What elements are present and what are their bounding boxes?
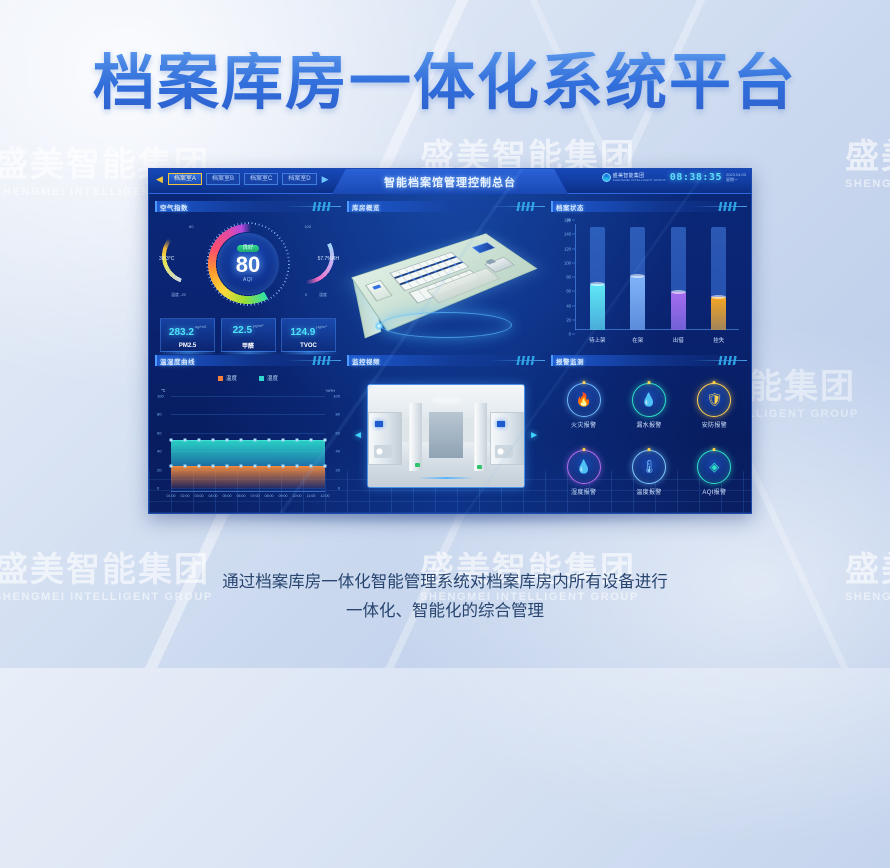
prev-arrow-icon[interactable]: ◀ [155, 175, 164, 184]
chart-data-point [324, 439, 327, 442]
chart-data-point [240, 464, 243, 467]
chart-y-tick-left: 20 [157, 467, 161, 472]
alarm-grid: 🔥火灾报警💧漏水报警🛡安防报警💧湿度报警🌡温度报警◈AQI报警 [551, 366, 747, 506]
panel-title-video: 监控视频 [347, 356, 380, 366]
tvoc-value: 124.9 [290, 327, 315, 338]
chart-x-tick-label: 02:00 [181, 494, 190, 498]
panel-body: 33.3°C 60 温度 -20 良好 80 AQI [155, 212, 341, 316]
panel-title-temp-humidity: 温湿度曲线 [155, 356, 195, 366]
control-cabinet [365, 280, 393, 302]
video-corridor-end [429, 412, 463, 458]
metric-value-row: 22.5μg/m³ [233, 320, 264, 338]
alarm-indicator-dot [647, 381, 650, 384]
chart-data-point [184, 439, 187, 442]
chart-y-tick-right: 0 [338, 486, 340, 491]
bar-chart-y-tick [572, 305, 575, 306]
watermark-en: SHENGMEI INTELLIGENT GROUP [845, 178, 890, 190]
bar-chart-y-tick-label: 100 [564, 260, 571, 265]
bar-chart-y-tick [572, 334, 575, 335]
humidity-unit-label: 湿度 [319, 292, 327, 298]
bar-chart-y-tick-label: 60 [566, 289, 571, 294]
chart-x-tick-label: 06:00 [237, 494, 246, 498]
humidity-gauge: 57.7%RH 100 0 湿度 [283, 226, 329, 300]
bar-cap [711, 295, 726, 299]
chart-y-unit-left: ℃ [161, 388, 166, 393]
bar-fill [590, 284, 605, 330]
panel-decoration-icon [487, 202, 545, 211]
tab-room-d[interactable]: 档案室D [282, 173, 316, 185]
chart-data-point [268, 464, 271, 467]
panel-decoration-icon [283, 356, 341, 365]
panel-title-air: 空气指数 [155, 202, 188, 212]
bar-chart-y-tick [572, 291, 575, 292]
alarm-item[interactable]: 💧湿度报警 [567, 450, 601, 496]
video-floor-led [418, 477, 474, 479]
chart-data-point [254, 464, 257, 467]
bar-fill [711, 297, 726, 330]
bar-chart-x-tick-label: 出借 [667, 336, 689, 344]
tab-room-c[interactable]: 档案室C [244, 173, 278, 185]
alarm-indicator-dot [582, 381, 585, 384]
temperature-max: 60 [189, 224, 193, 229]
panel-header: 报警监测 [551, 355, 747, 366]
watermark-cn: 盛美智能集团 [845, 140, 890, 174]
bar-chart-y-tick [572, 234, 575, 235]
humidity-min: 0 [305, 292, 307, 297]
chart-data-point [170, 464, 173, 467]
warehouse-3d-model[interactable] [347, 212, 545, 348]
panel-decoration-icon [283, 202, 341, 211]
chart-data-point [198, 439, 201, 442]
aqi-leaf-icon: ◈ [709, 460, 719, 473]
bar-chart-y-tick [572, 262, 575, 263]
alarm-label: 湿度报警 [571, 487, 596, 496]
bar-chart-y-tick-label: 40 [566, 303, 571, 308]
holographic-base-ring [380, 312, 512, 338]
chart-x-tick-label: 09:00 [279, 494, 288, 498]
clock-date: 2023.04.03 星期一 [726, 173, 746, 182]
bar-chart-y-tick-label: 160 [564, 218, 571, 223]
metric-card-pm25: 283.2ug/m3 PM2.5 [160, 318, 215, 352]
video-pillar-left [409, 403, 422, 470]
bar-fill [630, 276, 645, 330]
bar-chart-y-tick-label: 0 [569, 332, 571, 337]
air-metric-cards: 283.2ug/m3 PM2.5 22.5μg/m³ 甲醛 124.9μg/m³ [155, 318, 341, 352]
header-title-plate: 智能档案馆管理控制总台 [332, 169, 568, 194]
pm25-label: PM2.5 [179, 343, 196, 349]
metric-card-tvoc: 124.9μg/m³ TVOC [281, 318, 336, 352]
brand-logo-icon [602, 173, 611, 182]
video-ceiling-light [433, 399, 459, 402]
panel-temp-humidity: 温湿度曲线 温度 湿度 ℃ %RH 002020404060 [155, 355, 341, 509]
archive-status-chart: 件 020406080100120140160 待上架在架出借挂失 [551, 212, 747, 348]
chart-y-tick-left: 40 [157, 449, 161, 454]
panel-decoration-icon [689, 356, 747, 365]
humidity-max: 100 [304, 224, 311, 229]
video-cabinet-right [490, 412, 524, 465]
caption-line-2: 一体化、智能化的综合管理 [0, 597, 890, 626]
header-right-cluster: 盛美智能集团 SHENGMEI INTELLIGENT GROUP 08:38:… [602, 172, 746, 183]
chart-data-point [170, 439, 173, 442]
pm25-unit: ug/m3 [195, 324, 206, 329]
bar-chart-x-tick-label: 在架 [627, 336, 649, 344]
chart-y-tick-right: 80 [336, 412, 340, 417]
chart-gridline [171, 433, 325, 434]
chart-x-tick-label: 12:00 [321, 494, 330, 498]
alarm-item[interactable]: ◈AQI报警 [697, 450, 731, 496]
chart-gridline [171, 414, 325, 415]
legend-label-temperature: 温度 [226, 374, 237, 382]
alarm-ring: 💧 [567, 450, 601, 484]
panel-title-alarm: 报警监测 [551, 356, 584, 366]
aqi-value: 80 [236, 254, 260, 276]
alarm-item[interactable]: 🔥火灾报警 [567, 383, 601, 429]
chart-data-point [212, 439, 215, 442]
alarm-item[interactable]: 🛡安防报警 [697, 383, 731, 429]
aqi-unit-label: AQI [243, 277, 253, 283]
alarm-ring: ◈ [697, 450, 731, 484]
dashboard-header: ◀ 档案室A 档案室B 档案室C 档案室D ▶ 智能档案馆管理控制总台 盛美智能… [149, 169, 751, 194]
chart-data-point [240, 439, 243, 442]
aqi-core: 良好 80 AQI [217, 233, 279, 295]
alarm-indicator-dot [713, 448, 716, 451]
bar-chart-x-tick-label: 挂失 [708, 336, 730, 344]
video-feed[interactable] [367, 384, 525, 488]
humidity-area-band [171, 440, 325, 466]
bar-column[interactable] [671, 224, 686, 330]
chart-gridline [171, 488, 325, 489]
bar-chart-y-axis [575, 224, 576, 330]
chart-y-tick-left: 100 [157, 394, 164, 399]
dashboard-container: ◀ 档案室A 档案室B 档案室C 档案室D ▶ 智能档案馆管理控制总台 盛美智能… [148, 168, 752, 514]
chart-legend: 温度 湿度 [155, 374, 341, 382]
video-cabinet-left [368, 412, 402, 465]
panel-header: 档案状态 [551, 201, 747, 212]
panel-title-status: 档案状态 [551, 202, 584, 212]
bar-chart-x-labels: 待上架在架出借挂失 [577, 336, 739, 344]
bar-chart-y-tick [572, 277, 575, 278]
chart-x-tick-label: 08:00 [265, 494, 274, 498]
alarm-indicator-dot [647, 448, 650, 451]
video-prev-icon[interactable]: ◄ [353, 431, 363, 441]
bar-chart-y-tick-label: 80 [566, 275, 571, 280]
chart-data-point [310, 439, 313, 442]
chart-data-point [268, 439, 271, 442]
next-arrow-icon[interactable]: ▶ [321, 175, 330, 184]
alarm-label: 火灾报警 [571, 420, 596, 429]
formaldehyde-unit: μg/m³ [253, 323, 263, 328]
chart-y-tick-right: 60 [336, 430, 340, 435]
legend-item-temperature[interactable]: 温度 [218, 374, 237, 382]
watermark: 盛美智能集团 SHENGMEI INTELLIGENT GROUP [845, 140, 890, 190]
chart-y-tick-right: 40 [336, 449, 340, 454]
chart-x-tick-label: 11:00 [307, 494, 316, 498]
bar-column[interactable] [711, 224, 726, 330]
chart-data-point [212, 464, 215, 467]
alarm-item[interactable]: 🌡温度报警 [632, 450, 666, 496]
bar-chart-x-tick-label: 待上架 [586, 336, 608, 344]
metric-value-row: 124.9μg/m³ [290, 322, 326, 340]
brand-text: 盛美智能集团 SHENGMEI INTELLIGENT GROUP [613, 174, 666, 182]
alarm-indicator-dot [582, 448, 585, 451]
video-pillar-right [474, 403, 487, 470]
metric-value-row: 283.2ug/m3 [169, 322, 206, 340]
dashboard-title: 智能档案馆管理控制总台 [384, 174, 516, 190]
chart-data-point [254, 439, 257, 442]
panel-warehouse-overview: 库房概览 [347, 201, 545, 351]
bar-chart-y-tick-label: 120 [564, 246, 571, 251]
chart-data-point [226, 439, 229, 442]
temp-humidity-plot: 002020404060608080100100 [171, 396, 325, 488]
bar-cap [630, 274, 645, 278]
floor-walkway [427, 268, 501, 304]
panel-header: 监控视频 [347, 355, 545, 366]
panel-alarm-monitor: 报警监测 🔥火灾报警💧漏水报警🛡安防报警💧湿度报警🌡温度报警◈AQI报警 [551, 355, 747, 509]
brand-name-en: SHENGMEI INTELLIGENT GROUP [613, 179, 666, 182]
fire-icon: 🔥 [576, 393, 592, 406]
chart-data-point [184, 464, 187, 467]
bar-column[interactable] [630, 224, 645, 330]
chart-data-point [296, 439, 299, 442]
legend-label-humidity: 湿度 [267, 374, 278, 382]
chart-y-tick-left: 80 [157, 412, 161, 417]
bar-chart-y-tick-label: 140 [564, 232, 571, 237]
alarm-label: 温度报警 [636, 487, 661, 496]
water-leak-icon: 💧 [641, 393, 657, 406]
panel-header: 空气指数 [155, 201, 341, 212]
bar-chart-bars [577, 224, 739, 330]
caption-line-1: 通过档案库房一体化智能管理系统对档案库房内所有设备进行 [0, 568, 890, 597]
alarm-item[interactable]: 💧漏水报警 [632, 383, 666, 429]
chart-data-point [226, 464, 229, 467]
page-caption: 通过档案库房一体化智能管理系统对档案库房内所有设备进行 一体化、智能化的综合管理 [0, 568, 890, 626]
bar-chart-y-tick-label: 20 [566, 317, 571, 322]
formaldehyde-label: 甲醛 [242, 341, 254, 350]
chart-x-tick-label: 05:00 [223, 494, 232, 498]
panel-header: 温湿度曲线 [155, 355, 341, 366]
tab-room-b[interactable]: 档案室B [206, 173, 240, 185]
chart-x-tick-label: 01:00 [167, 494, 176, 498]
chart-x-tick-label: 03:00 [195, 494, 204, 498]
panel-air-quality: 空气指数 33.3°C 60 温度 -20 良好 [155, 201, 341, 351]
tvoc-unit: μg/m³ [316, 324, 326, 329]
panel-decoration-icon [689, 202, 747, 211]
alarm-ring: 🌡 [632, 450, 666, 484]
chart-data-point [282, 439, 285, 442]
room-tabs: ◀ 档案室A 档案室B 档案室C 档案室D ▶ [155, 173, 330, 185]
panel-video-monitor: 监控视频 ◄ ► [347, 355, 545, 509]
shield-icon: 🛡 [706, 393, 723, 406]
humidity-icon: 💧 [576, 460, 592, 473]
clock-time: 08:38:35 [670, 172, 722, 183]
thermometer-icon: 🌡 [641, 460, 658, 473]
temperature-area-band [171, 466, 325, 488]
bar-chart-y-tick [572, 248, 575, 249]
alarm-ring: 🔥 [567, 383, 601, 417]
chart-y-unit-right: %RH [326, 388, 335, 393]
chart-y-tick-right: 100 [333, 394, 340, 399]
temperature-value: 33.3°C [159, 256, 174, 262]
bar-chart-y-labels: 020406080100120140160 [553, 220, 575, 334]
chart-x-tick-label: 07:00 [251, 494, 260, 498]
bar-chart-plot: 020406080100120140160 [577, 224, 739, 330]
chart-data-point [324, 464, 327, 467]
tvoc-label: TVOC [300, 343, 317, 349]
temp-humidity-chart: 温度 湿度 ℃ %RH 002020404060608080100100 [155, 366, 341, 506]
video-exit-sign-right [477, 465, 482, 469]
dashboard: ◀ 档案室A 档案室B 档案室C 档案室D ▶ 智能档案馆管理控制总台 盛美智能… [148, 168, 752, 514]
panel-header: 库房概览 [347, 201, 545, 212]
chart-y-tick-right: 20 [336, 467, 340, 472]
wall-display-screen [472, 242, 496, 254]
chart-x-tick-label: 04:00 [209, 494, 218, 498]
panel-archive-status: 档案状态 件 020406080100120140160 待上架在架出借挂失 [551, 201, 747, 351]
alarm-indicator-dot [713, 381, 716, 384]
bar-column[interactable] [590, 224, 605, 330]
metric-card-formaldehyde: 22.5μg/m³ 甲醛 [221, 318, 276, 352]
brand-logo: 盛美智能集团 SHENGMEI INTELLIGENT GROUP [602, 173, 666, 182]
chart-data-point [310, 464, 313, 467]
temperature-min: 温度 -20 [171, 292, 186, 298]
legend-swatch-temperature [218, 376, 223, 381]
video-exit-sign-left [415, 463, 420, 467]
aqi-gauge-zone: 33.3°C 60 温度 -20 良好 80 AQI [155, 212, 341, 316]
bar-cap [590, 282, 605, 286]
legend-swatch-humidity [259, 376, 264, 381]
chart-x-tick-label: 10:00 [293, 494, 302, 498]
page-title: 档案库房一体化系统平台 [0, 52, 890, 114]
bar-fill [671, 292, 686, 330]
weekday-value: 星期一 [726, 178, 746, 183]
alarm-label: AQI报警 [702, 487, 726, 496]
bar-chart-y-tick [572, 220, 575, 221]
chart-x-labels: 01:0002:0003:0004:0005:0006:0007:0008:00… [171, 494, 325, 502]
panel-title-warehouse: 库房概览 [347, 202, 380, 212]
pm25-value: 283.2 [169, 327, 194, 338]
alarm-ring: 🛡 [697, 383, 731, 417]
video-viewer: ◄ ► [347, 366, 545, 506]
chart-data-point [282, 464, 285, 467]
chart-y-tick-left: 60 [157, 430, 161, 435]
chart-y-tick-left: 0 [157, 486, 159, 491]
chart-data-point [198, 464, 201, 467]
legend-item-humidity[interactable]: 湿度 [259, 374, 278, 382]
alarm-ring: 💧 [632, 383, 666, 417]
base-glow-dot [375, 322, 383, 330]
panel-decoration-icon [487, 356, 545, 365]
chart-data-point [296, 464, 299, 467]
alarm-label: 漏水报警 [636, 420, 661, 429]
tab-room-a[interactable]: 档案室A [168, 173, 202, 185]
humidity-value: 57.7%RH [318, 256, 339, 262]
formaldehyde-value: 22.5 [233, 325, 252, 336]
chart-gridline [171, 396, 325, 397]
chart-x-axis [171, 491, 325, 492]
alarm-label: 安防报警 [702, 420, 727, 429]
video-next-icon[interactable]: ► [529, 431, 539, 441]
bar-chart-y-tick [572, 319, 575, 320]
